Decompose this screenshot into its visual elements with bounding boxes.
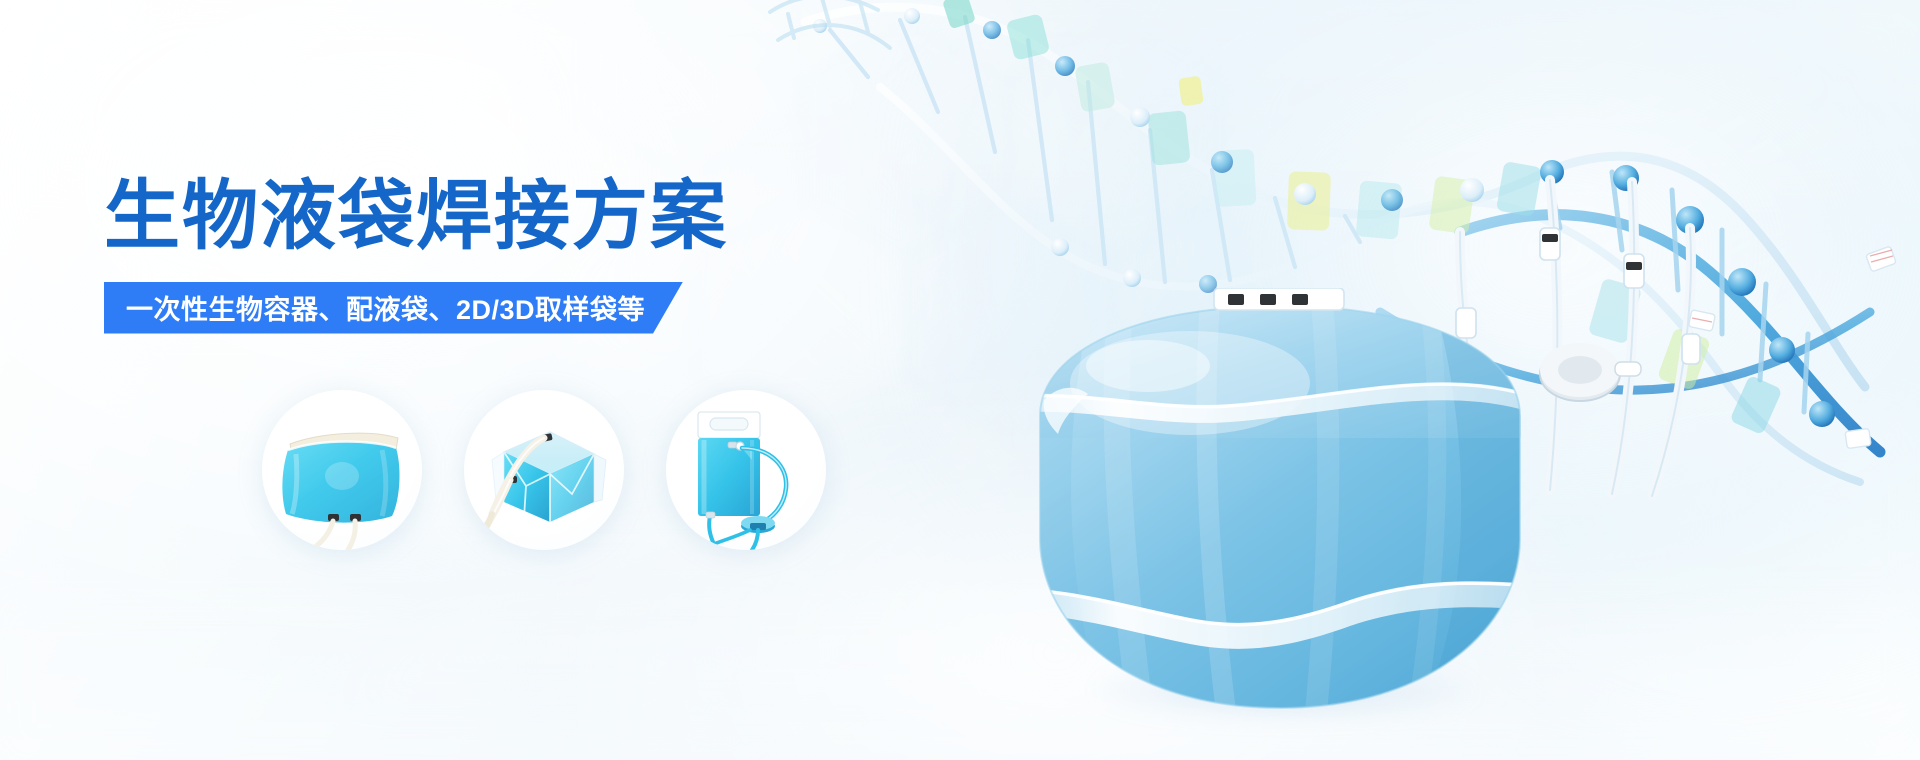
hero-text-block: 生物液袋焊接方案 一次性生物容器、配液袋、2D/3D取样袋等 (104, 178, 728, 334)
product-thumb-pillow-bag[interactable] (262, 390, 422, 550)
product-thumbnail-row (262, 390, 826, 550)
subtitle-banner: 一次性生物容器、配液袋、2D/3D取样袋等 (104, 282, 683, 334)
product-thumb-sampling-bag[interactable] (666, 390, 826, 550)
hero-banner: 生物液袋焊接方案 一次性生物容器、配液袋、2D/3D取样袋等 (0, 0, 1920, 760)
foreground-vignette (0, 0, 1920, 760)
bioreactor-bag-shadow (1095, 662, 1475, 720)
subtitle-text: 一次性生物容器、配液袋、2D/3D取样袋等 (104, 282, 683, 334)
page-title: 生物液袋焊接方案 (104, 178, 728, 256)
product-thumb-3d-cube-bag[interactable] (464, 390, 624, 550)
